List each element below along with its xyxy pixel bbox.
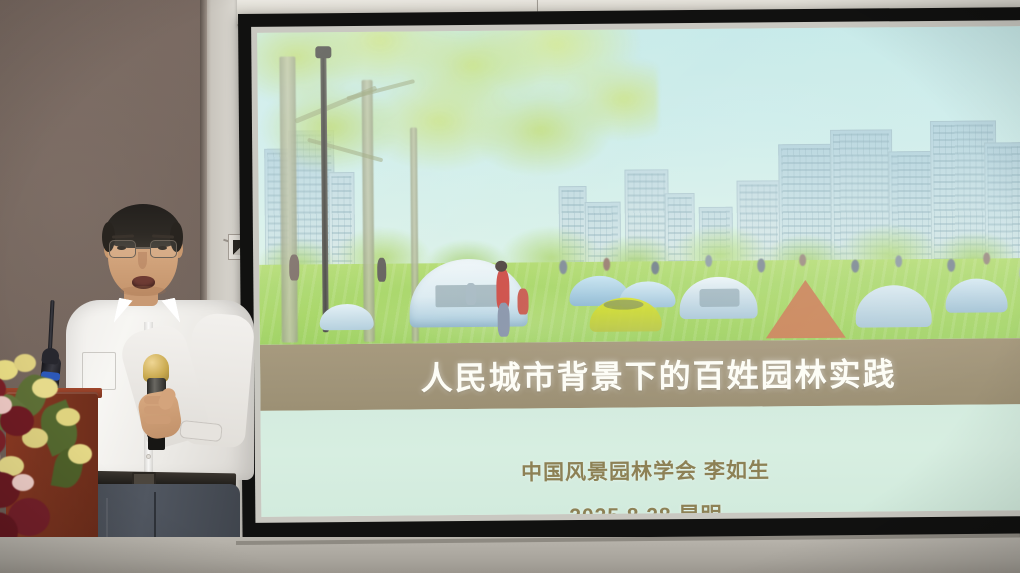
tent-teepee [765, 280, 846, 339]
photo-tree-canopy [257, 26, 659, 269]
presenter-chin-shadow [120, 286, 166, 296]
presenter-nose [138, 252, 147, 269]
projection-screen: 人民城市背景下的百姓园林实践 中国风景园林学会 李如生 2025.8.28 昆明 [238, 7, 1020, 541]
slide-title-band: 人民城市背景下的百姓园林实践 [260, 338, 1020, 411]
slide-title: 人民城市背景下的百姓园林实践 [392, 349, 896, 399]
tree-trunk [362, 80, 375, 342]
person-child [517, 288, 528, 314]
person [289, 254, 299, 280]
park-lamp-head [315, 46, 331, 58]
person-head [495, 261, 507, 272]
slide-photo [257, 26, 1020, 345]
flower [56, 408, 80, 426]
screenshot-stage: 人民城市背景下的百姓园林实践 中国风景园林学会 李如生 2025.8.28 昆明 [0, 0, 1020, 573]
floor-strip [0, 537, 1020, 573]
person [498, 303, 510, 337]
housing-seam [537, 0, 538, 11]
presentation-slide: 人民城市背景下的百姓园林实践 中国风景园林学会 李如生 2025.8.28 昆明 [257, 26, 1020, 517]
shirt-collar-right [150, 298, 181, 329]
shirt-collar-left [114, 298, 145, 329]
person [465, 283, 476, 305]
slide-subtitle-area: 中国风景园林学会 李如生 2025.8.28 昆明 [260, 404, 1020, 517]
person [377, 258, 386, 282]
flower [68, 444, 92, 464]
flower [32, 378, 58, 398]
tree-trunk [279, 57, 297, 343]
flower [14, 354, 36, 372]
flower [12, 474, 34, 491]
slide-subtitle-org: 中国风景园林学会 李如生 [521, 454, 770, 486]
